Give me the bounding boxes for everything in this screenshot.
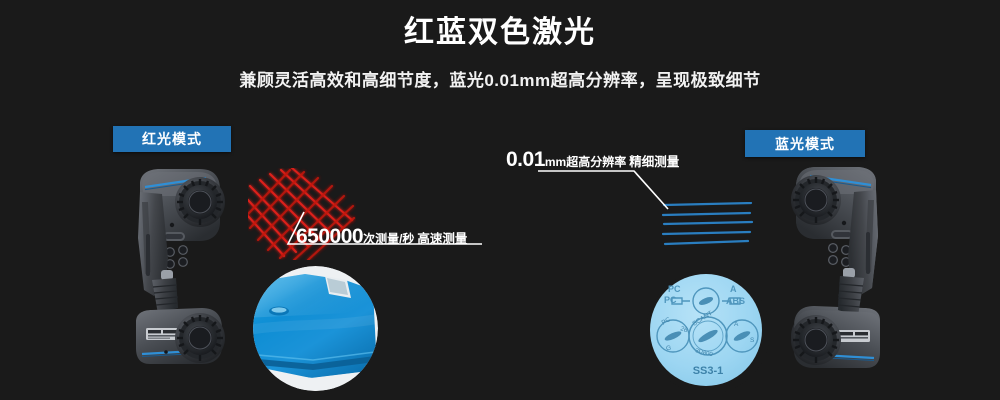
callout-red-unit: 次测量/秒	[363, 232, 414, 246]
scanner-lens-ring-upper	[175, 177, 225, 227]
scanner-led-array	[166, 246, 188, 269]
page-title: 红蓝双色激光	[0, 14, 1000, 52]
svg-text:S: S	[750, 337, 755, 344]
badge-blue-mode-label: 蓝光模式	[775, 134, 835, 154]
blue-parallel-laser	[662, 202, 754, 246]
svg-text:G: G	[666, 345, 671, 352]
callout-red-tail: 高速测量	[417, 232, 467, 246]
part-label-top-left-2: PC	[664, 295, 677, 305]
part-label-bottom: SS3-1	[693, 365, 724, 377]
callout-leader-line-blue	[538, 168, 674, 212]
door-handle	[269, 307, 289, 316]
callout-red-value: 650000	[296, 225, 363, 248]
page-subtitle: 兼顾灵活高效和高细节度，蓝光0.01mm超高分辨率，呈现极致细节	[0, 69, 1000, 93]
callout-red: 650000次测量/秒高速测量	[296, 225, 467, 249]
badge-red-mode[interactable]: 红光模式	[113, 126, 231, 152]
badge-blue-mode[interactable]: 蓝光模式	[745, 130, 865, 157]
callout-blue: 0.01mm超高分辨率精细测量	[506, 148, 679, 172]
scanner-lens-ring-lower	[175, 313, 225, 363]
part-label-top-right: ABS	[726, 296, 745, 306]
handheld-3d-scanner-left	[118, 162, 258, 367]
part-label-top-right-a: A	[730, 284, 737, 294]
badge-red-mode-label: 红光模式	[142, 129, 202, 149]
callout-blue-unit: mm超高分辨率	[545, 155, 626, 169]
photo-car-door-scan	[253, 266, 378, 391]
brand-plate	[146, 328, 180, 340]
photo-scanned-part: PC PC A ABS PC 26 G SCANT 3D800	[646, 270, 770, 394]
scanner-oval-button[interactable]	[163, 232, 185, 241]
part-label-top-left: PC	[668, 284, 681, 294]
handheld-3d-scanner-right	[758, 160, 898, 370]
callout-blue-tail: 精细测量	[629, 155, 679, 169]
callout-blue-value: 0.01	[506, 148, 545, 171]
svg-text:A: A	[734, 321, 739, 328]
sensor-dot	[170, 223, 174, 227]
promo-banner: 红蓝双色激光 兼顾灵活高效和高细节度，蓝光0.01mm超高分辨率，呈现极致细节 …	[0, 0, 1000, 400]
